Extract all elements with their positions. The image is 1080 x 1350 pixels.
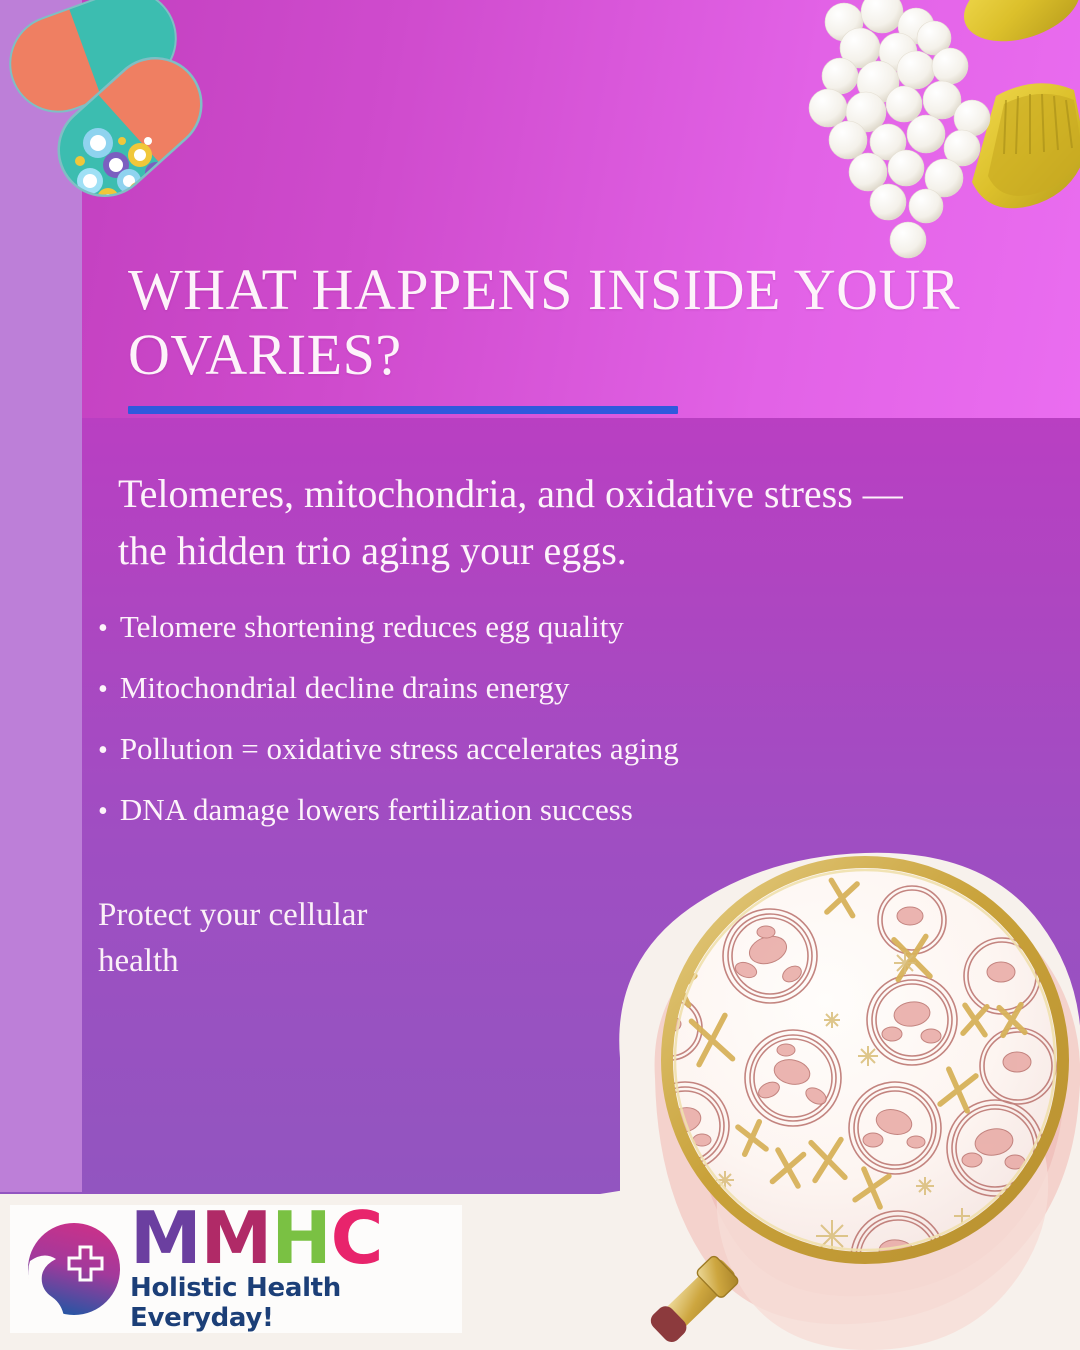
list-item: • Pollution = oxidative stress accelerat… <box>98 732 898 766</box>
logo-tagline: Holistic Health Everyday! <box>130 1273 462 1333</box>
bullet-dot-icon: • <box>98 737 108 765</box>
bullet-dot-icon: • <box>98 676 108 704</box>
brand-logo: M M H C Holistic Health Everyday! <box>10 1205 462 1333</box>
capsule-pills-decoration <box>0 0 260 235</box>
subtitle-text: Telomeres, mitochondria, and oxidative s… <box>118 466 948 580</box>
logo-letter-3: H <box>271 1205 330 1271</box>
call-to-action-text: Protect your cellular health <box>98 893 528 984</box>
logo-circle-mark <box>22 1217 126 1321</box>
logo-wordmark: M M H C Holistic Health Everyday! <box>130 1205 462 1333</box>
list-item-label: Mitochondrial decline drains energy <box>120 671 570 705</box>
list-item-label: Telomere shortening reduces egg quality <box>120 610 624 644</box>
list-item-label: Pollution = oxidative stress accelerates… <box>120 732 679 766</box>
bullet-dot-icon: • <box>98 615 108 643</box>
logo-letter-4: C <box>331 1205 383 1271</box>
logo-letter-1: M <box>130 1205 201 1271</box>
list-item-label: DNA damage lowers fertilization success <box>120 793 633 827</box>
pills-bottle-decoration <box>800 0 1080 270</box>
magnifier-cells-illustration <box>560 828 1080 1350</box>
list-item: • Mitochondrial decline drains energy <box>98 671 898 705</box>
logo-letters: M M H C <box>130 1205 462 1271</box>
cta-line-2: health <box>98 939 528 985</box>
logo-letter-2: M <box>201 1205 272 1271</box>
poster-canvas: WHAT HAPPENS INSIDE YOUR OVARIES? Telome… <box>0 0 1080 1350</box>
list-item: • DNA damage lowers fertilization succes… <box>98 793 898 827</box>
page-title: WHAT HAPPENS INSIDE YOUR OVARIES? <box>128 258 1008 388</box>
benefits-list: • Telomere shortening reduces egg qualit… <box>98 610 898 854</box>
bullet-dot-icon: • <box>98 798 108 826</box>
list-item: • Telomere shortening reduces egg qualit… <box>98 610 898 644</box>
title-underline-rule <box>128 406 678 414</box>
cta-line-1: Protect your cellular <box>98 893 528 939</box>
